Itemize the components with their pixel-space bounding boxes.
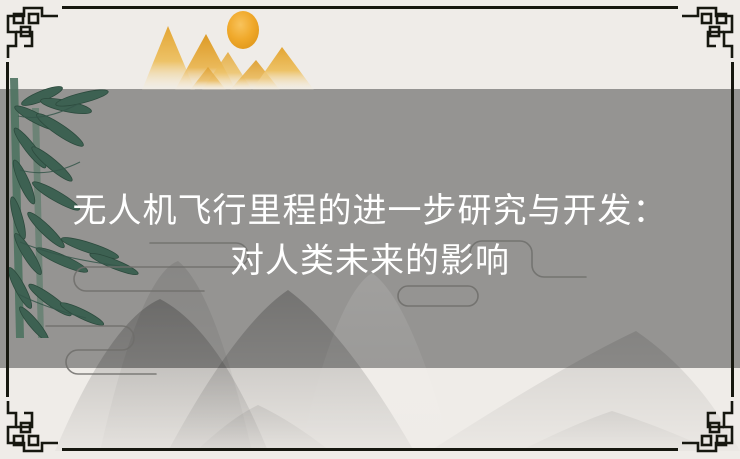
corner-ornament-bottom-right (676, 395, 738, 457)
poster-canvas: 无人机飞行里程的进一步研究与开发： 对人类未来的影响 (0, 0, 740, 459)
frame-rule-bottom (62, 448, 678, 451)
corner-ornament-top-right (676, 2, 738, 64)
bamboo-leaf (34, 110, 87, 150)
bamboo-leaf (26, 281, 74, 320)
sun-shape (227, 11, 259, 49)
corner-ornament-bottom-left (2, 395, 64, 457)
corner-ornament-top-left (2, 2, 64, 64)
poster-title: 无人机飞行里程的进一步研究与开发： 对人类未来的影响 (0, 186, 740, 286)
title-line-2: 对人类未来的影响 (0, 236, 740, 286)
frame-rule-top (62, 6, 678, 9)
title-line-1: 无人机飞行里程的进一步研究与开发： (0, 186, 740, 236)
